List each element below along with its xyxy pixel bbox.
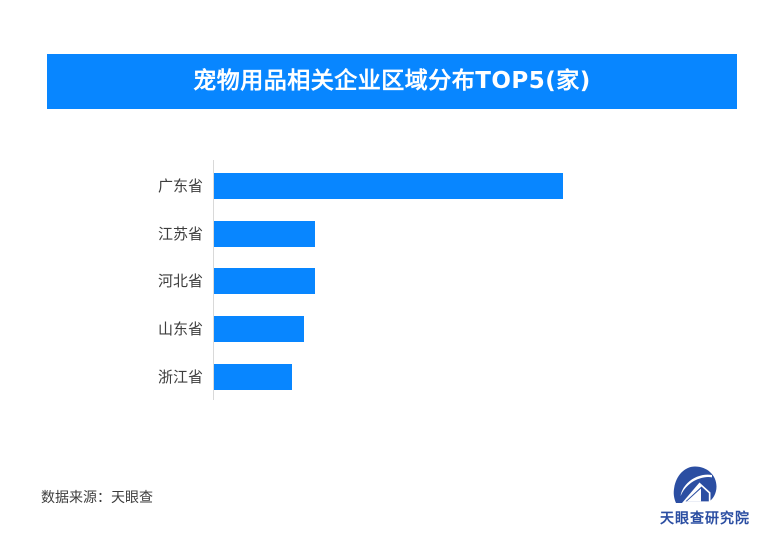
bar-category-label: 江苏省 bbox=[103, 221, 203, 247]
bar-chart: 广东省 江苏省 河北省 山东省 浙江省 bbox=[0, 0, 783, 544]
tianyancha-eye-arch-icon bbox=[672, 466, 718, 506]
data-source-label: 数据来源：天眼查 bbox=[41, 487, 153, 507]
bar-category-label: 山东省 bbox=[103, 316, 203, 342]
bar-value-rect bbox=[214, 173, 563, 199]
brand-logo-text: 天眼查研究院 bbox=[650, 508, 760, 528]
bar-value-rect bbox=[214, 364, 292, 390]
bar-value-rect bbox=[214, 221, 315, 247]
brand-logo: 天眼查研究院 bbox=[650, 466, 760, 530]
bar-row: 河北省 bbox=[0, 268, 783, 294]
bar-category-label: 广东省 bbox=[103, 173, 203, 199]
bar-value-rect bbox=[214, 268, 315, 294]
bar-row: 广东省 bbox=[0, 173, 783, 199]
bar-row: 山东省 bbox=[0, 316, 783, 342]
bar-category-label: 浙江省 bbox=[103, 364, 203, 390]
bar-value-rect bbox=[214, 316, 304, 342]
bar-row: 江苏省 bbox=[0, 221, 783, 247]
bar-row: 浙江省 bbox=[0, 364, 783, 390]
bar-category-label: 河北省 bbox=[103, 268, 203, 294]
chart-page: 宠物用品相关企业区域分布TOP5(家) 广东省 江苏省 河北省 山东省 浙江省 … bbox=[0, 0, 783, 544]
